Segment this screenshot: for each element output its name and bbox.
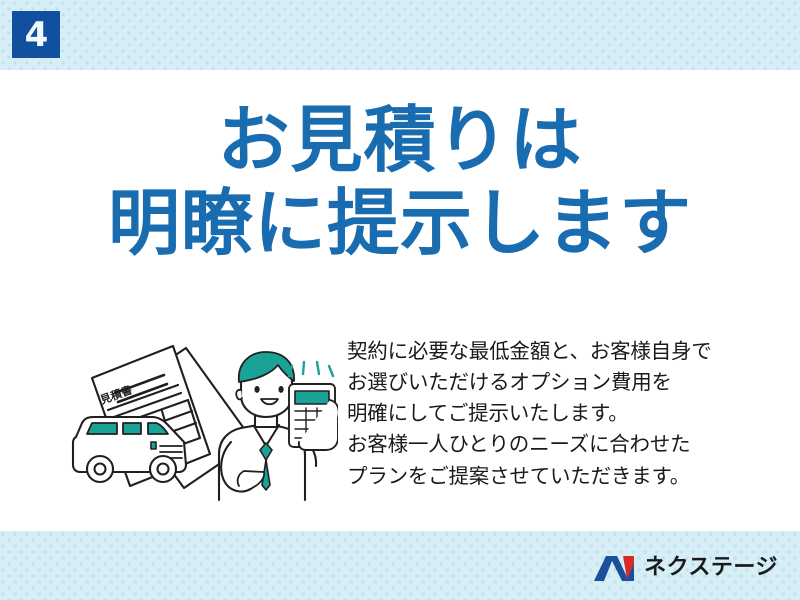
step-number-badge: 4 — [12, 11, 60, 58]
body-line-1: 契約に必要な最低金額と、お客様自身で — [347, 336, 747, 367]
headline-line-2: 明瞭に提示します — [0, 187, 800, 260]
slide-root: 4 お見積りは 明瞭に提示します 契約に必要な最低金額と、お客様自身で お選びい… — [0, 0, 800, 600]
headline-line-1: お見積りは — [0, 104, 800, 177]
teal-van — [73, 417, 186, 482]
body-line-2: お選びいただけるオプション費用を — [347, 367, 747, 398]
step-number-label: 4 — [25, 18, 48, 52]
body-line-3: 明確にしてご提示いたします。 — [347, 398, 747, 429]
calculator — [289, 384, 338, 450]
body-line-4: お客様一人ひとりのニーズに合わせた — [347, 429, 747, 460]
sparkle-icon — [289, 362, 333, 376]
body-line-5: プランをご提案させていただきます。 — [347, 461, 747, 492]
nextage-n-icon — [593, 555, 635, 582]
header-band — [0, 0, 800, 70]
brand-name: ネクステージ — [644, 557, 778, 579]
brand-logo: ネクステージ — [593, 551, 778, 585]
page-title: お見積りは 明瞭に提示します — [0, 104, 800, 261]
quotation-illustration: 見積書 — [68, 338, 338, 503]
body-copy: 契約に必要な最低金額と、お客様自身で お選びいただけるオプション費用を 明確にし… — [347, 336, 747, 492]
